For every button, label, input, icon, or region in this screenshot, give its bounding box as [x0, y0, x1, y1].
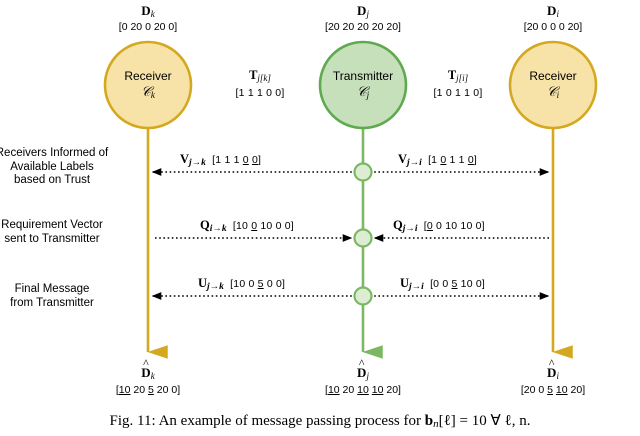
output-label-i: ^Di [20 0 5 10 20]: [453, 365, 640, 397]
trust-label-right: Tj[i] [1 0 1 1 0]: [398, 68, 518, 101]
junction-u: [355, 288, 372, 305]
node-role-k: Receiver: [88, 69, 208, 84]
top-label-k: Dk [0 20 0 20 0]: [48, 4, 248, 34]
row-description-q: Requirement Vectorsent to Transmitter: [0, 219, 140, 246]
output-label-j: ^Dj [10 20 10 10 20]: [263, 365, 463, 397]
output-symbol-k: ^Dk: [48, 365, 248, 384]
top-vector-i: [20 0 0 0 20]: [453, 21, 640, 34]
msg-label-q-right: Qj→i [0 0 10 10 0]: [393, 216, 485, 234]
figure-caption: Fig. 11: An example of message passing p…: [0, 404, 640, 436]
output-symbol-i: ^Di: [453, 365, 640, 384]
output-symbol-j: ^Dj: [263, 365, 463, 384]
top-vector-j: [20 20 20 20 20]: [263, 21, 463, 34]
node-id-k: 𝒞k: [88, 84, 208, 103]
top-vector-k: [0 20 0 20 0]: [48, 21, 248, 34]
output-vector-i: [20 0 5 10 20]: [453, 384, 640, 397]
row-description-u: Final Messagefrom Transmitter: [0, 283, 140, 310]
top-label-j: Dj [20 20 20 20 20]: [263, 4, 463, 34]
caption-text: Fig. 11: An example of message passing p…: [110, 411, 531, 430]
trust-vector-left: [1 1 1 0 0]: [200, 86, 320, 101]
trust-symbol-right: Tj[i]: [398, 68, 518, 86]
top-label-i: Di [20 0 0 0 20]: [453, 4, 640, 34]
diagram-canvas: [0, 0, 640, 404]
top-symbol-j: Dj: [263, 4, 463, 21]
output-vector-j: [10 20 10 10 20]: [263, 384, 463, 397]
top-symbol-i: Di: [453, 4, 640, 21]
junction-q: [355, 230, 372, 247]
msg-label-v-right: Vj→i [1 0 1 1 0]: [398, 150, 477, 168]
output-label-k: ^Dk [10 20 5 20 0]: [48, 365, 248, 397]
trust-vector-right: [1 0 1 1 0]: [398, 86, 518, 101]
output-vector-k: [10 20 5 20 0]: [48, 384, 248, 397]
node-label-receiver-k: Receiver 𝒞k: [88, 69, 208, 103]
row-description-v: Receivers Informed ofAvailable Labelsbas…: [0, 147, 140, 188]
junction-v: [355, 164, 372, 181]
trust-label-left: Tj[k] [1 1 1 0 0]: [200, 68, 320, 101]
msg-label-u-left: Uj→k [10 0 5 0 0]: [198, 274, 285, 292]
top-symbol-k: Dk: [48, 4, 248, 21]
msg-label-q-left: Qi→k [10 0 10 0 0]: [200, 216, 294, 234]
figure-container: Dk [0 20 0 20 0] Dj [20 20 20 20 20] Di …: [0, 0, 640, 404]
msg-label-u-right: Uj→i [0 0 5 10 0]: [400, 274, 485, 292]
msg-label-v-left: Vj→k [1 1 1 0 0]: [180, 150, 261, 168]
trust-symbol-left: Tj[k]: [200, 68, 320, 86]
